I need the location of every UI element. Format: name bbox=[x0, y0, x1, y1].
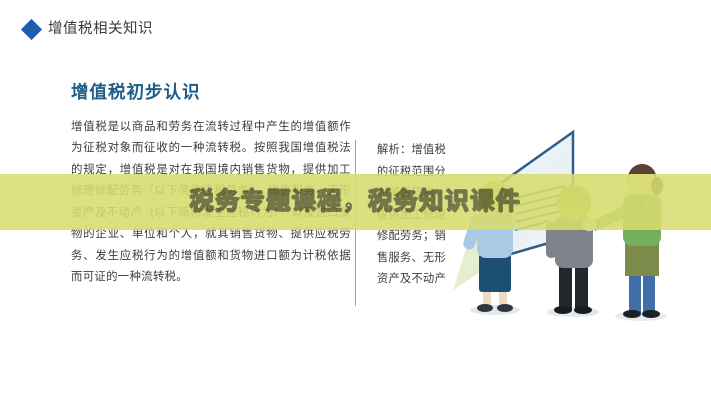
diamond-icon bbox=[21, 18, 42, 39]
slide-title: 增值税初步认识 bbox=[71, 84, 351, 102]
watermark-band: 税务专题课程，税务知识课件 bbox=[0, 174, 711, 230]
page-title: 增值税相关知识 bbox=[48, 22, 153, 37]
page-header: 增值税相关知识 bbox=[0, 0, 711, 58]
watermark-text: 税务专题课程，税务知识课件 bbox=[190, 190, 522, 214]
